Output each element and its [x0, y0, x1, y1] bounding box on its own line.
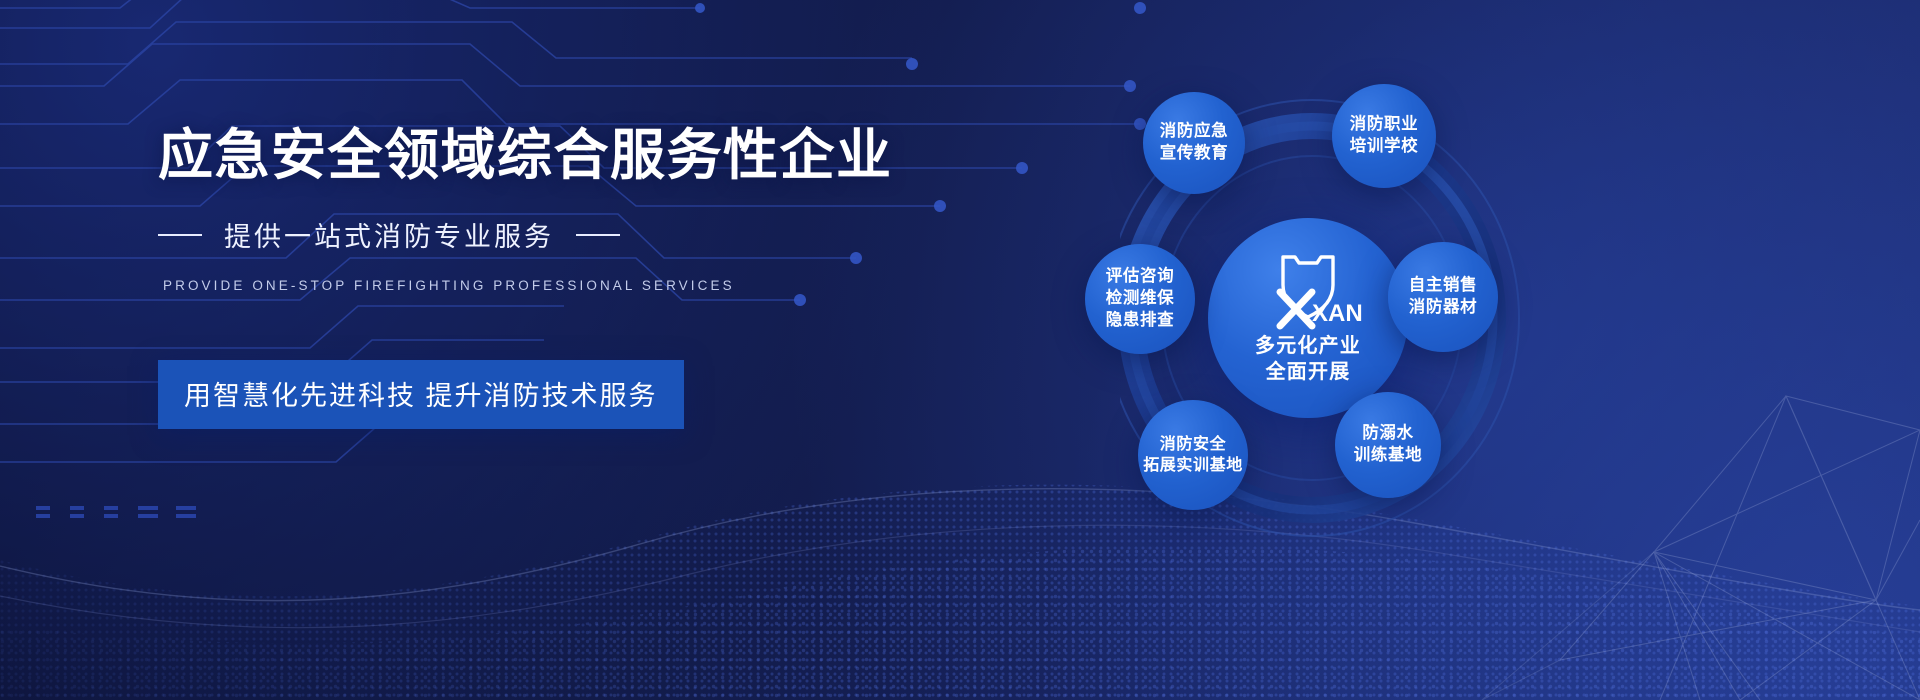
diagram-node-sales[interactable]: 自主销售 消防器材	[1388, 242, 1498, 352]
center-line-1: 多元化产业	[1255, 333, 1361, 359]
services-diagram: 多元化产业 全面开展 XAN 消防应急 宣传教育 消防职业 培训学校 评估咨询 …	[1120, 70, 1740, 630]
hero-banner: 应急安全领域综合服务性企业 提供一站式消防专业服务 PROVIDE ONE-ST…	[0, 0, 1920, 700]
hero-ribbon-text: 用智慧化先进科技 提升消防技术服务	[184, 374, 658, 413]
rule-left-icon	[158, 234, 202, 236]
hero-subtitle: 提供一站式消防专业服务	[158, 215, 978, 254]
node-water-safety-line-1: 防溺水	[1362, 423, 1413, 445]
hero-ribbon-banner: 用智慧化先进科技 提升消防技术服务	[158, 360, 684, 429]
node-sales-line-1: 自主销售	[1409, 275, 1477, 297]
diagram-center-node[interactable]: 多元化产业 全面开展	[1208, 218, 1408, 418]
node-assessment-line-1: 评估咨询	[1106, 266, 1174, 288]
rule-right-icon	[576, 234, 620, 236]
node-training-base-line-2: 拓展实训基地	[1143, 455, 1243, 476]
diagram-node-training-base[interactable]: 消防安全 拓展实训基地	[1138, 400, 1248, 510]
center-line-2: 全面开展	[1266, 359, 1351, 385]
diagram-node-promo[interactable]: 消防应急 宣传教育	[1143, 92, 1245, 194]
node-sales-line-2: 消防器材	[1409, 297, 1477, 319]
diagram-node-water-safety[interactable]: 防溺水 训练基地	[1335, 392, 1441, 498]
node-promo-line-2: 宣传教育	[1160, 143, 1228, 165]
node-promo-line-1: 消防应急	[1160, 121, 1228, 143]
node-assessment-line-2: 检测维保	[1106, 288, 1174, 310]
node-assessment-line-3: 隐患排查	[1106, 310, 1174, 332]
node-school-line-2: 培训学校	[1350, 136, 1418, 158]
node-training-base-line-1: 消防安全	[1160, 434, 1226, 455]
node-water-safety-line-2: 训练基地	[1354, 445, 1422, 467]
diagram-node-assessment[interactable]: 评估咨询 检测维保 隐患排查	[1085, 244, 1195, 354]
hero-subtitle-text: 提供一站式消防专业服务	[224, 215, 554, 254]
node-school-line-1: 消防职业	[1350, 114, 1418, 136]
hero-subtitle-english: PROVIDE ONE-STOP FIREFIGHTING PROFESSION…	[163, 278, 978, 293]
hero-copy: 应急安全领域综合服务性企业 提供一站式消防专业服务 PROVIDE ONE-ST…	[158, 126, 978, 293]
shield-icon	[1273, 251, 1343, 329]
page-title: 应急安全领域综合服务性企业	[158, 126, 978, 185]
diagram-node-school[interactable]: 消防职业 培训学校	[1332, 84, 1436, 188]
